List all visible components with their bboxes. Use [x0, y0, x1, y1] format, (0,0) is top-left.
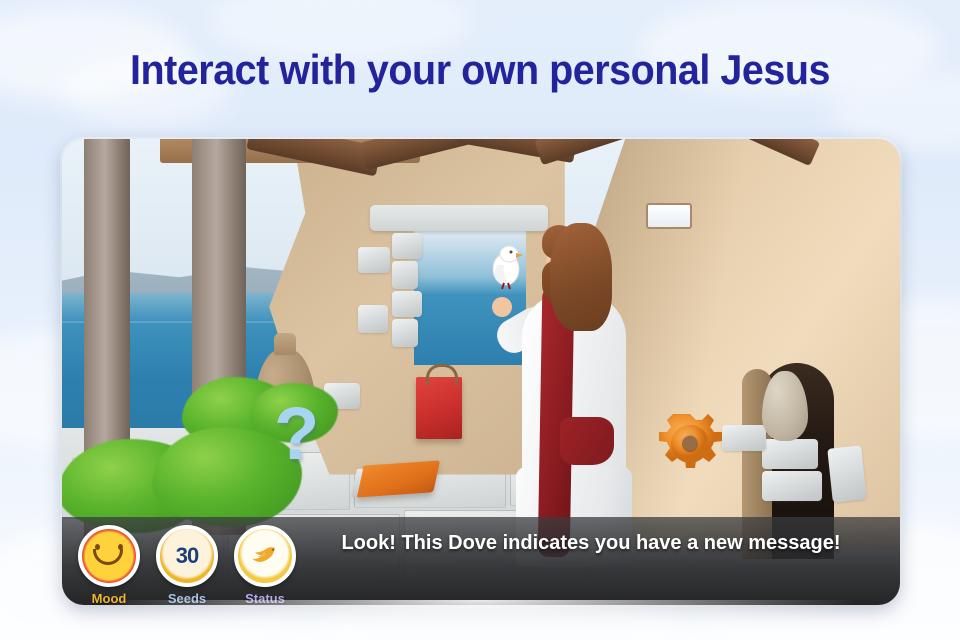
seed-sack-icon[interactable]: 30 — [156, 525, 218, 587]
hud-message-text: Look! This Dove indicates you have a new… — [296, 517, 900, 555]
question-mark-icon[interactable]: ? — [274, 397, 319, 471]
seeds-count: 30 — [176, 543, 198, 569]
bag-handle — [426, 364, 458, 385]
jesus-character[interactable] — [490, 217, 660, 567]
jesus-sash-drape — [560, 417, 614, 465]
smiley-icon[interactable] — [78, 525, 140, 587]
hud-item-mood[interactable]: Mood — [78, 525, 140, 605]
jesus-hair — [550, 223, 612, 331]
smiley-mouth — [93, 549, 123, 565]
hud-item-seeds[interactable]: 30 Seeds — [156, 525, 218, 605]
panel-glow — [100, 600, 860, 640]
shopping-bag-object[interactable] — [416, 377, 462, 439]
jar-neck — [274, 333, 296, 355]
game-scene-panel[interactable]: ? — [62, 139, 900, 605]
book-object[interactable] — [356, 460, 440, 497]
dove-glyph — [247, 538, 283, 574]
gear-icon[interactable] — [658, 411, 722, 475]
jesus-hand — [492, 297, 512, 317]
page-title: Interact with your own personal Jesus — [29, 46, 931, 94]
dove-icon[interactable] — [234, 525, 296, 587]
hud-item-status[interactable]: Status — [234, 525, 296, 605]
hud-stats: Mood 30 Seeds Status — [62, 517, 296, 605]
dove-icon[interactable] — [482, 241, 536, 295]
hud-bar: Mood 30 Seeds Status Look! Thi — [62, 517, 900, 605]
